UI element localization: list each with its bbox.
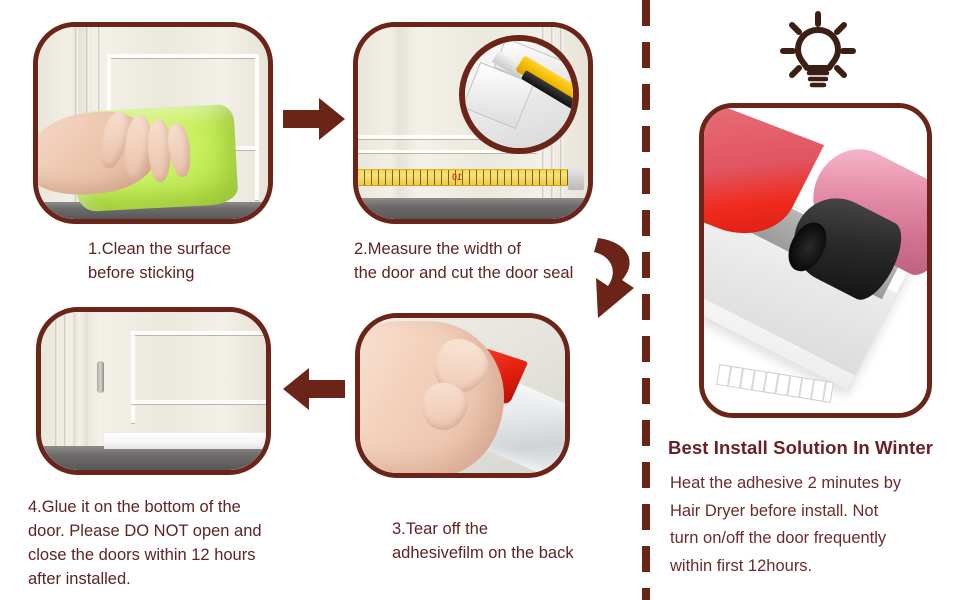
step-4-caption: 4.Glue it on the bottom of the door. Ple… [28, 496, 328, 592]
step-3-photo-frame [355, 313, 570, 478]
door-handle [97, 361, 104, 393]
floor [358, 198, 588, 219]
arrow-step3-to-step4 [281, 366, 345, 412]
installed-door-seal [104, 432, 266, 449]
step-3-caption: 3.Tear off the adhesivefilm on the back [392, 518, 627, 566]
lightbulb-icon [779, 10, 857, 97]
door-panel-line [107, 54, 259, 58]
step-1-photo [38, 27, 268, 219]
door-frame-edge [73, 312, 89, 448]
floor [41, 446, 266, 470]
tip-photo [704, 108, 927, 413]
magnifier-content [465, 41, 573, 148]
section-divider [642, 0, 650, 600]
door-panel-line [255, 54, 259, 200]
infographic-root: 10 1.Clean the surface before sticking 2… [0, 0, 970, 600]
tape-ticks [358, 170, 572, 185]
step-2-photo: 10 [358, 27, 588, 219]
tip-title: Best Install Solution In Winter [668, 437, 968, 459]
step-2-caption: 2.Measure the width of the door and cut … [354, 238, 624, 286]
step-2-photo-frame: 10 [353, 22, 593, 224]
magnifier-inset [459, 35, 579, 154]
step-4-photo-frame [36, 307, 271, 475]
step-4-photo [41, 312, 266, 470]
wall-moulding [131, 331, 266, 335]
wall-moulding [131, 400, 266, 404]
tip-photo-frame [699, 103, 932, 418]
tip-body: Heat the adhesive 2 minutes by Hair Drye… [670, 470, 962, 581]
tape-measure: 10 [358, 169, 572, 186]
step-3-photo [360, 318, 565, 473]
wall-moulding [131, 331, 135, 423]
tape-measure-number: 10 [452, 172, 462, 182]
arrow-step2-to-step3 [588, 228, 648, 326]
step-1-caption: 1.Clean the surface before sticking [88, 238, 308, 286]
arrow-step1-to-step2 [283, 96, 347, 142]
tape-hook [568, 167, 584, 190]
step-1-photo-frame [33, 22, 273, 224]
